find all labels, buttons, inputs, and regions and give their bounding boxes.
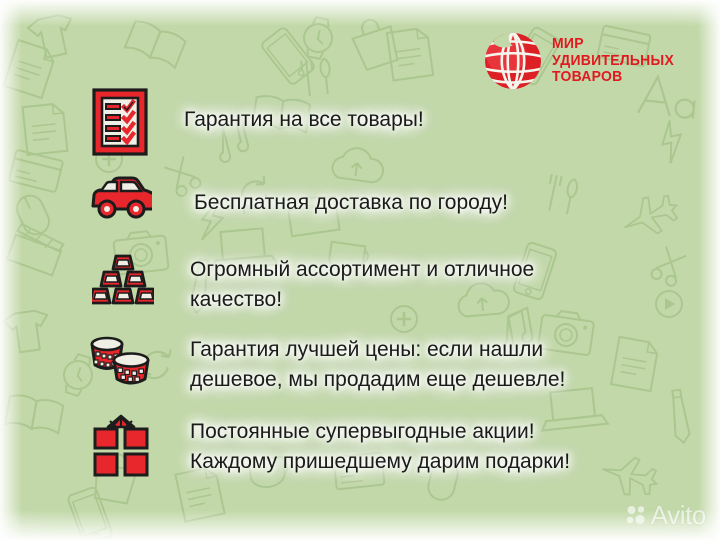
car-icon <box>90 176 152 225</box>
avito-watermark: Avito <box>626 502 706 528</box>
benefit-item: Постоянные супервыгодные акции! Каждому … <box>92 412 570 483</box>
avito-dots-icon <box>626 505 646 525</box>
avito-wordmark: Avito <box>651 502 706 528</box>
benefit-text: Гарантия на все товары! <box>184 105 424 135</box>
checklist-icon <box>92 88 148 161</box>
promo-poster: МИР УДИВИТЕЛЬНЫХ ТОВАРОВ <box>0 0 720 540</box>
gold-bars-icon <box>92 252 154 313</box>
benefit-item: Гарантия на все товары! <box>92 88 424 161</box>
benefit-item: Гарантия лучшей цены: если нашли дешевое… <box>88 330 565 395</box>
crowns-icon <box>88 330 154 395</box>
benefit-text: Гарантия лучшей цены: если нашли дешевое… <box>190 335 565 395</box>
benefit-text: Бесплатная доставка по городу! <box>194 188 508 218</box>
benefit-text: Постоянные супервыгодные акции! Каждому … <box>190 417 570 477</box>
gift-box-icon <box>92 412 150 483</box>
benefit-item: Бесплатная доставка по городу! <box>90 176 508 225</box>
benefit-text: Огромный ассортимент и отличное качество… <box>190 255 534 315</box>
benefit-item: Огромный ассортимент и отличное качество… <box>92 252 534 315</box>
benefits-list: Гарантия на все товары! Бесплатная доста… <box>0 0 720 540</box>
